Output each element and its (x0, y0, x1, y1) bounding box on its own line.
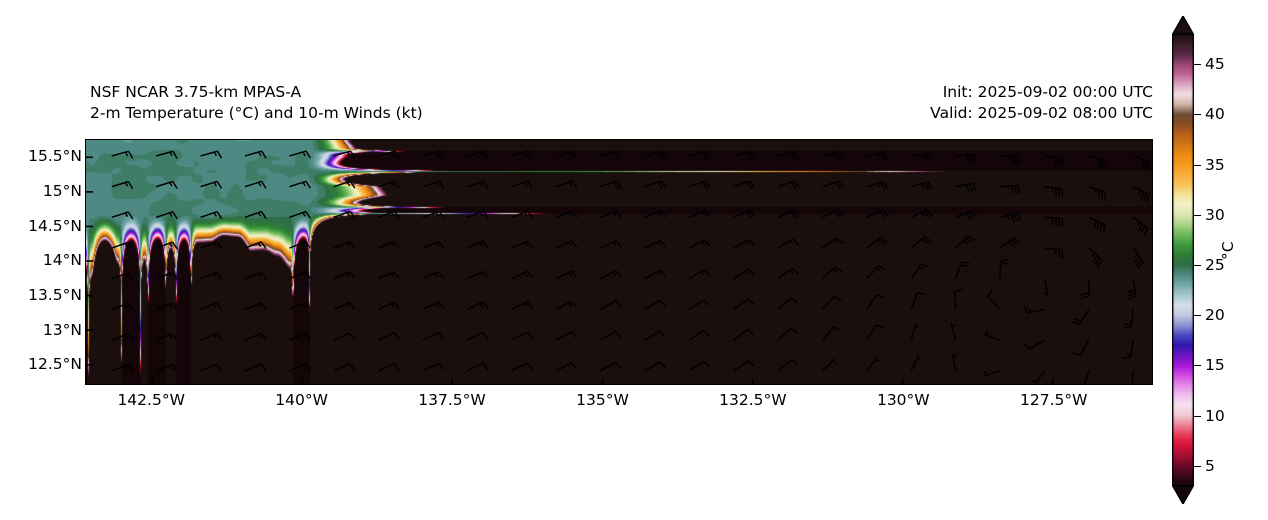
colorbar-tick-label: 30 (1205, 206, 1225, 224)
longitude-tick-label: 130°W (877, 391, 930, 409)
model-title-block: NSF NCAR 3.75-km MPAS-A 2-m Temperature … (90, 82, 423, 124)
colorbar-extend-top-arrow (1172, 16, 1194, 34)
colorbar-extend-bottom-arrow (1172, 486, 1194, 504)
latitude-tick-label: 14°N (43, 251, 82, 269)
longitude-tick-label: 135°W (576, 391, 629, 409)
longitude-tick-label: 140°W (275, 391, 328, 409)
colorbar-tick-mark (1194, 265, 1201, 266)
colorbar-gradient (1172, 34, 1194, 486)
map-plot-area[interactable] (85, 139, 1153, 385)
model-field-line: 2-m Temperature (°C) and 10-m Winds (kt) (90, 103, 423, 124)
colorbar-tick-mark (1194, 165, 1201, 166)
latitude-tick-label: 15°N (43, 182, 82, 200)
latitude-tick-label: 14.5°N (28, 217, 82, 235)
longitude-tick-label: 132.5°W (719, 391, 786, 409)
colorbar-tick-mark (1194, 416, 1201, 417)
latitude-tick-label: 12.5°N (28, 355, 82, 373)
colorbar-tick-label: 15 (1205, 356, 1225, 374)
init-time-label: Init: 2025-09-02 00:00 UTC (930, 82, 1153, 103)
colorbar-tick-mark (1194, 466, 1201, 467)
forecast-time-block: Init: 2025-09-02 00:00 UTC Valid: 2025-0… (930, 82, 1153, 124)
model-name-line: NSF NCAR 3.75-km MPAS-A (90, 82, 423, 103)
axis-tick-layer (86, 140, 1152, 385)
colorbar-tick-mark (1194, 365, 1201, 366)
colorbar-tick-label: 20 (1205, 306, 1225, 324)
valid-time-label: Valid: 2025-09-02 08:00 UTC (930, 103, 1153, 124)
colorbar-tick-mark (1194, 114, 1201, 115)
colorbar-unit-label: °C (1219, 241, 1237, 260)
latitude-tick-label: 15.5°N (28, 147, 82, 165)
longitude-tick-label: 137.5°W (418, 391, 485, 409)
longitude-tick-label: 127.5°W (1020, 391, 1087, 409)
colorbar-tick-label: 45 (1205, 55, 1225, 73)
longitude-tick-label: 142.5°W (117, 391, 184, 409)
colorbar-tick-mark (1194, 315, 1201, 316)
colorbar-tick-mark (1194, 215, 1201, 216)
colorbar-tick-label: 35 (1205, 156, 1225, 174)
latitude-tick-label: 13°N (43, 321, 82, 339)
latitude-tick-label: 13.5°N (28, 286, 82, 304)
colorbar-tick-label: 10 (1205, 407, 1225, 425)
colorbar-tick-label: 40 (1205, 105, 1225, 123)
colorbar-tick-mark (1194, 64, 1201, 65)
colorbar[interactable] (1172, 16, 1194, 504)
colorbar-tick-label: 5 (1205, 457, 1215, 475)
